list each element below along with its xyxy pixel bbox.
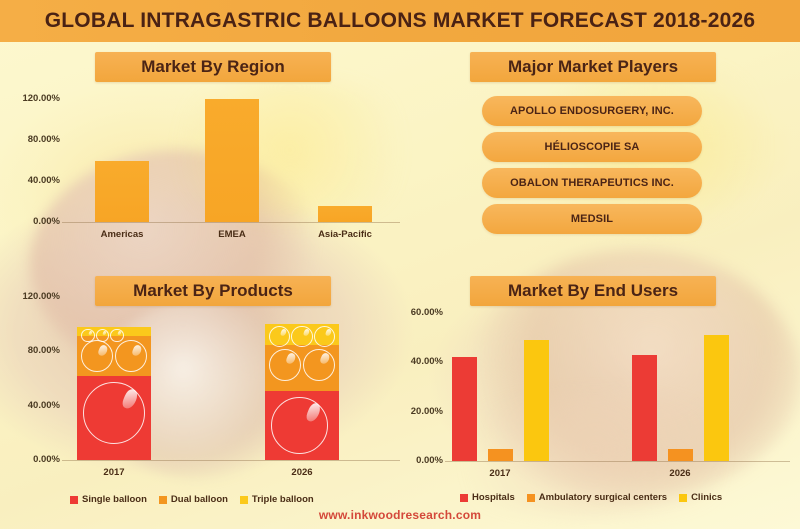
player-pill[interactable]: MEDSIL bbox=[482, 204, 702, 234]
player-pill[interactable]: OBALON THERAPEUTICS INC. bbox=[482, 168, 702, 198]
legend-swatch-icon bbox=[679, 494, 687, 502]
legend-label: Dual balloon bbox=[171, 494, 228, 505]
page-title: GLOBAL INTRAGASTRIC BALLOONS MARKET FORE… bbox=[45, 9, 756, 33]
legend-label: Clinics bbox=[691, 492, 722, 503]
y-tick-label: 120.00% bbox=[4, 93, 60, 104]
legend-item[interactable]: Clinics bbox=[679, 492, 722, 503]
endusers-legend: HospitalsAmbulatory surgical centersClin… bbox=[460, 492, 722, 503]
bar-hospitals-2017[interactable] bbox=[452, 357, 477, 461]
player-pill[interactable]: HÉLIOSCOPIE SA bbox=[482, 132, 702, 162]
products-legend: Single balloonDual balloonTriple balloon bbox=[70, 494, 314, 505]
legend-swatch-icon bbox=[159, 496, 167, 504]
player-name: APOLLO ENDOSURGERY, INC. bbox=[510, 105, 674, 117]
legend-label: Triple balloon bbox=[252, 494, 314, 505]
products-axis-baseline bbox=[62, 460, 400, 461]
balloon-highlight-icon bbox=[305, 402, 322, 424]
balloon-highlight-icon bbox=[88, 331, 92, 336]
x-category-label: 2026 bbox=[630, 468, 730, 479]
y-tick-label: 40.00% bbox=[4, 175, 60, 186]
y-tick-label: 80.00% bbox=[4, 345, 60, 356]
title-band: GLOBAL INTRAGASTRIC BALLOONS MARKET FORE… bbox=[0, 0, 800, 42]
legend-item[interactable]: Hospitals bbox=[460, 492, 515, 503]
bar-ambulatory-surgical-centers-2017[interactable] bbox=[488, 449, 513, 461]
bar-clinics-2026[interactable] bbox=[704, 335, 729, 461]
x-category-label: 2017 bbox=[64, 467, 164, 478]
x-category-label: 2017 bbox=[450, 468, 550, 479]
legend-item[interactable]: Dual balloon bbox=[159, 494, 228, 505]
x-category-label: Asia-Pacific bbox=[295, 229, 395, 240]
legend-swatch-icon bbox=[240, 496, 248, 504]
balloon-highlight-icon bbox=[98, 344, 109, 357]
legend-swatch-icon bbox=[460, 494, 468, 502]
y-tick-label: 20.00% bbox=[387, 406, 443, 417]
balloon-highlight-icon bbox=[286, 352, 297, 365]
endusers-axis-baseline bbox=[445, 461, 790, 462]
y-tick-label: 0.00% bbox=[4, 216, 60, 227]
legend-swatch-icon bbox=[70, 496, 78, 504]
y-tick-label: 0.00% bbox=[387, 455, 443, 466]
y-tick-label: 40.00% bbox=[4, 400, 60, 411]
panel-heading-region-label: Market By Region bbox=[141, 57, 285, 77]
legend-label: Hospitals bbox=[472, 492, 515, 503]
balloon-highlight-icon bbox=[302, 329, 309, 337]
balloon-highlight-icon bbox=[120, 387, 139, 410]
x-category-label: Americas bbox=[72, 229, 172, 240]
y-tick-label: 80.00% bbox=[4, 134, 60, 145]
balloon-illustration-icon bbox=[291, 326, 312, 347]
bar-americas[interactable] bbox=[95, 161, 149, 223]
player-name: HÉLIOSCOPIE SA bbox=[545, 141, 640, 153]
bar-hospitals-2026[interactable] bbox=[632, 355, 657, 461]
legend-item[interactable]: Ambulatory surgical centers bbox=[527, 492, 667, 503]
panel-heading-players: Major Market Players bbox=[470, 52, 716, 82]
chart-market-by-end-users: 0.00%20.00%40.00%60.00% 20172026 bbox=[390, 290, 800, 470]
y-tick-label: 0.00% bbox=[4, 454, 60, 465]
footer-website: www.inkwoodresearch.com bbox=[0, 508, 800, 522]
balloon-illustration-icon bbox=[110, 329, 124, 343]
bar-ambulatory-surgical-centers-2026[interactable] bbox=[668, 449, 693, 461]
balloon-illustration-icon bbox=[269, 349, 301, 381]
bar-clinics-2017[interactable] bbox=[524, 340, 549, 461]
x-category-label: EMEA bbox=[182, 229, 282, 240]
y-tick-label: 60.00% bbox=[387, 307, 443, 318]
balloon-highlight-icon bbox=[103, 331, 107, 336]
balloon-illustration-icon bbox=[83, 382, 145, 444]
chart-market-by-region: 0.00%40.00%80.00%120.00% AmericasEMEAAsi… bbox=[0, 88, 420, 240]
panel-heading-players-label: Major Market Players bbox=[508, 57, 678, 77]
player-name: MEDSIL bbox=[571, 213, 613, 225]
region-axis-baseline bbox=[62, 222, 400, 223]
balloon-highlight-icon bbox=[132, 344, 143, 357]
player-name: OBALON THERAPEUTICS INC. bbox=[510, 177, 674, 189]
balloon-highlight-icon bbox=[117, 331, 121, 336]
chart-market-by-products: 0.00%40.00%80.00%120.00% 20172026 bbox=[0, 290, 420, 470]
legend-item[interactable]: Single balloon bbox=[70, 494, 147, 505]
balloon-highlight-icon bbox=[320, 352, 331, 365]
x-category-label: 2026 bbox=[252, 467, 352, 478]
major-market-players-list: APOLLO ENDOSURGERY, INC.HÉLIOSCOPIE SAOB… bbox=[482, 96, 702, 240]
balloon-illustration-icon bbox=[81, 329, 95, 343]
balloon-highlight-icon bbox=[280, 329, 287, 337]
balloon-illustration-icon bbox=[271, 397, 328, 454]
balloon-highlight-icon bbox=[325, 329, 332, 337]
legend-label: Single balloon bbox=[82, 494, 147, 505]
bar-emea[interactable] bbox=[205, 99, 259, 222]
infographic-canvas: GLOBAL INTRAGASTRIC BALLOONS MARKET FORE… bbox=[0, 0, 800, 529]
legend-label: Ambulatory surgical centers bbox=[539, 492, 667, 503]
legend-item[interactable]: Triple balloon bbox=[240, 494, 314, 505]
y-tick-label: 120.00% bbox=[4, 291, 60, 302]
player-pill[interactable]: APOLLO ENDOSURGERY, INC. bbox=[482, 96, 702, 126]
legend-swatch-icon bbox=[527, 494, 535, 502]
bar-asia-pacific[interactable] bbox=[318, 206, 372, 222]
y-tick-label: 40.00% bbox=[387, 356, 443, 367]
balloon-illustration-icon bbox=[303, 349, 335, 381]
panel-heading-region: Market By Region bbox=[95, 52, 331, 82]
